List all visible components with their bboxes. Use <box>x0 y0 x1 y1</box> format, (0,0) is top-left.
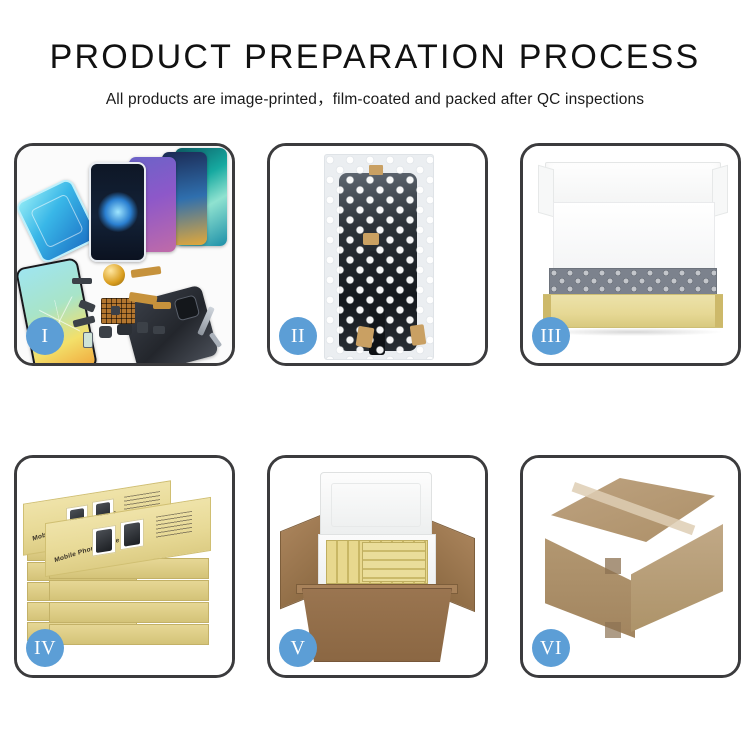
box-window-graphic <box>120 518 144 550</box>
small-part-graphic <box>153 302 171 309</box>
product-preparation-infographic: PRODUCT PREPARATION PROCESS All products… <box>0 0 750 750</box>
foam-box-lid-graphic <box>320 472 432 538</box>
box-shadow-graphic <box>545 328 721 336</box>
step-badge-2: II <box>279 317 317 355</box>
small-part-graphic <box>72 278 92 284</box>
wrapped-screen-graphic <box>339 173 417 351</box>
tape-graphic-right <box>410 324 427 346</box>
small-part-graphic <box>137 322 148 333</box>
step-badge-6: VI <box>532 629 570 667</box>
small-part-graphic <box>117 324 132 335</box>
box-layer-graphic <box>49 580 209 601</box>
step-panel-6: VI <box>520 455 741 678</box>
step-panel-5: V <box>267 455 488 678</box>
bubble-wrapped-items-graphic <box>549 268 717 296</box>
flex-cable-graphic-a <box>131 266 162 278</box>
step-panel-3: III <box>520 143 741 366</box>
small-part-graphic <box>83 332 93 348</box>
carton-front-graphic <box>302 588 452 662</box>
step-badge-3: III <box>532 317 570 355</box>
foam-sheet-graphic <box>553 202 715 270</box>
adhesive-film-graphic <box>17 177 100 265</box>
yellow-boxes-stack-graphic <box>362 542 426 582</box>
small-part-graphic <box>99 326 112 338</box>
step-badge-4: IV <box>26 629 64 667</box>
screen-glass-graphic <box>89 162 146 262</box>
step-panel-2: II <box>267 143 488 366</box>
step-badge-5: V <box>279 629 317 667</box>
carton-left-face-graphic <box>545 522 635 638</box>
process-steps-grid: I II <box>14 143 736 678</box>
header: PRODUCT PREPARATION PROCESS All products… <box>0 0 750 109</box>
small-part-graphic <box>153 326 165 334</box>
step-badge-1: I <box>26 317 64 355</box>
carton-tab-graphic <box>605 622 621 638</box>
tape-graphic-middle <box>363 233 379 245</box>
page-title: PRODUCT PREPARATION PROCESS <box>0 40 750 76</box>
kraft-box-front-graphic <box>543 294 723 328</box>
box-window-graphic <box>92 525 116 557</box>
step-panel-4: Mobile Phone Spare Parts Mobile Phone Sp… <box>14 455 235 678</box>
step-panel-1: I <box>14 143 235 366</box>
box-layer-graphic <box>49 602 209 623</box>
box-layer-graphic <box>49 624 209 645</box>
page-subtitle: All products are image-printed，film-coat… <box>0 87 750 109</box>
box-spec-lines-graphic <box>156 511 192 539</box>
gold-component-graphic <box>103 264 125 286</box>
tape-graphic-left <box>356 326 375 348</box>
tape-graphic-top <box>369 165 383 175</box>
small-part-graphic <box>111 306 120 315</box>
carton-tab-graphic <box>605 558 621 574</box>
bubble-wrap-bag-graphic <box>324 154 434 360</box>
